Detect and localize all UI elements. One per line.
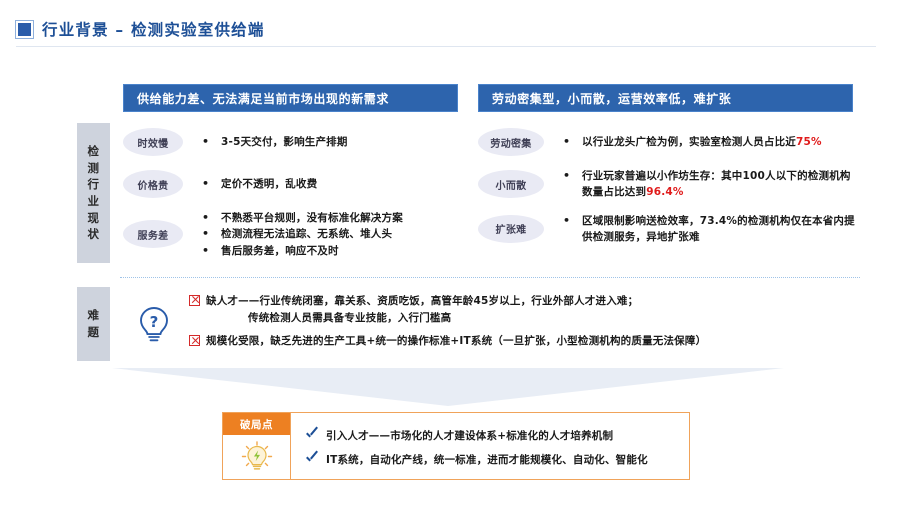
bullet-text: 行业玩家普遍以小作坊生存：其中100人以下的检测机构数量占比达到: [582, 170, 851, 198]
pill-price: 价格贵: [123, 170, 183, 198]
bullet-item: 售后服务差，响应不及时: [199, 243, 463, 259]
slide-root: 行业背景 – 检测实验室供给端 供给能力差、无法满足当前市场出现的新需求 劳动密…: [0, 0, 900, 510]
bullet-text: 以行业龙头广检为例，实验室检测人员占比近: [582, 136, 796, 148]
solution-box: 破局点: [222, 412, 690, 480]
row-service: 服务差 不熟悉平台规则，没有标准化解决方案 检测流程无法追踪、无系统、堆人头 售…: [123, 210, 463, 259]
problem-line-2: 传统检测人员需具备专业技能，入行门槛高: [206, 310, 638, 327]
pill-service: 服务差: [123, 220, 183, 248]
bullet-item: 检测流程无法追踪、无系统、堆人头: [199, 226, 463, 242]
row-price: 价格贵 定价不透明，乱收费: [123, 170, 463, 198]
bullet-item: 行业玩家普遍以小作坊生存：其中100人以下的检测机构数量占比达到96.4%: [560, 168, 860, 201]
bullet-item: 不熟悉平台规则，没有标准化解决方案: [199, 210, 463, 226]
column-labor: 劳动密集 以行业龙头广检为例，实验室检测人员占比近75% 小而散 行业玩家普遍以…: [478, 120, 860, 251]
side-label-problem: 难题: [77, 287, 110, 361]
funnel-arrow-shape: [112, 368, 784, 406]
row-small-scattered: 小而散 行业玩家普遍以小作坊生存：其中100人以下的检测机构数量占比达到96.4…: [478, 168, 860, 201]
row-labor-intensive: 劳动密集 以行业龙头广检为例，实验室检测人员占比近75%: [478, 128, 860, 156]
solution-badge-column: 破局点: [223, 413, 291, 479]
check-icon: [305, 452, 319, 466]
bullet-item: 区域限制影响送检效率，73.4%的检测机构仅在本省内提供检测服务，异地扩张难: [560, 213, 860, 246]
problem-section: ? 缺人才——行业传统闭塞，靠关系、资质吃饭，高管年龄45岁以上，行业外部人才进…: [123, 287, 863, 363]
solution-item-text: IT系统，自动化产线，统一标准，进而才能规模化、自动化、智能化: [326, 452, 648, 467]
svg-text:?: ?: [150, 313, 159, 331]
bullet-highlight: 75%: [796, 136, 822, 148]
pill-timeliness: 时效慢: [123, 128, 183, 156]
bullets-service: 不熟悉平台规则，没有标准化解决方案 检测流程无法追踪、无系统、堆人头 售后服务差…: [183, 210, 463, 259]
section-divider-dotted: [120, 277, 860, 278]
title-bullet-square-icon: [16, 21, 33, 38]
header-bar-supply: 供给能力差、无法满足当前市场出现的新需求: [123, 84, 458, 112]
header-bar-labor: 劳动密集型，小而散，运营效率低，难扩张: [478, 84, 853, 112]
solution-badge-label: 破局点: [223, 413, 290, 435]
title-divider: [16, 46, 876, 47]
page-title-text: 行业背景 – 检测实验室供给端: [42, 18, 265, 40]
problem-line-1: 规模化受限，缺乏先进的生产工具+统一的操作标准+IT系统（一旦扩张，小型检测机构…: [206, 335, 706, 347]
row-timeliness: 时效慢 3-5天交付，影响生产排期: [123, 128, 463, 156]
problem-list: 缺人才——行业传统闭塞，靠关系、资质吃饭，高管年龄45岁以上，行业外部人才进入难…: [185, 293, 863, 357]
side-label-problem-text: 难题: [88, 307, 100, 340]
bullets-price: 定价不透明，乱收费: [183, 176, 463, 192]
bullet-item: 3-5天交付，影响生产排期: [199, 134, 463, 150]
solution-item: IT系统，自动化产线，统一标准，进而才能规模化、自动化、智能化: [305, 452, 679, 467]
bullet-item: 定价不透明，乱收费: [199, 176, 463, 192]
bullets-expansion-hard: 区域限制影响送检效率，73.4%的检测机构仅在本省内提供检测服务，异地扩张难: [544, 213, 860, 246]
side-label-current-status: 检测行业现状: [77, 123, 110, 263]
pill-small-scattered: 小而散: [478, 170, 544, 198]
x-mark-icon: [189, 335, 200, 346]
problem-item-text: 规模化受限，缺乏先进的生产工具+统一的操作标准+IT系统（一旦扩张，小型检测机构…: [206, 333, 706, 350]
solution-list: 引入人才——市场化的人才建设体系+标准化的人才培养机制 IT系统，自动化产线，统…: [291, 413, 689, 479]
lightbulb-bolt-icon: [223, 435, 290, 479]
pill-expansion-hard: 扩张难: [478, 215, 544, 243]
problem-item: 缺人才——行业传统闭塞，靠关系、资质吃饭，高管年龄45岁以上，行业外部人才进入难…: [189, 293, 863, 327]
question-lightbulb-icon: ?: [123, 305, 185, 345]
solution-item-text: 引入人才——市场化的人才建设体系+标准化的人才培养机制: [326, 428, 613, 443]
side-label-current-text: 检测行业现状: [88, 143, 100, 243]
row-expansion-hard: 扩张难 区域限制影响送检效率，73.4%的检测机构仅在本省内提供检测服务，异地扩…: [478, 213, 860, 246]
problem-item-text: 缺人才——行业传统闭塞，靠关系、资质吃饭，高管年龄45岁以上，行业外部人才进入难…: [206, 293, 638, 327]
page-title: 行业背景 – 检测实验室供给端: [16, 18, 265, 40]
bullet-highlight: 96.4%: [646, 186, 683, 198]
x-mark-icon: [189, 295, 200, 306]
problem-item: 规模化受限，缺乏先进的生产工具+统一的操作标准+IT系统（一旦扩张，小型检测机构…: [189, 333, 863, 350]
problem-line-1: 缺人才——行业传统闭塞，靠关系、资质吃饭，高管年龄45岁以上，行业外部人才进入难…: [206, 295, 638, 307]
bullet-item: 以行业龙头广检为例，实验室检测人员占比近75%: [560, 134, 860, 150]
solution-item: 引入人才——市场化的人才建设体系+标准化的人才培养机制: [305, 428, 679, 443]
column-supply: 时效慢 3-5天交付，影响生产排期 价格贵 定价不透明，乱收费 服务差 不熟悉平…: [123, 120, 463, 265]
check-icon: [305, 428, 319, 442]
bullets-small-scattered: 行业玩家普遍以小作坊生存：其中100人以下的检测机构数量占比达到96.4%: [544, 168, 860, 201]
pill-labor-intensive: 劳动密集: [478, 128, 544, 156]
bullets-labor-intensive: 以行业龙头广检为例，实验室检测人员占比近75%: [544, 134, 860, 150]
bullets-timeliness: 3-5天交付，影响生产排期: [183, 134, 463, 150]
